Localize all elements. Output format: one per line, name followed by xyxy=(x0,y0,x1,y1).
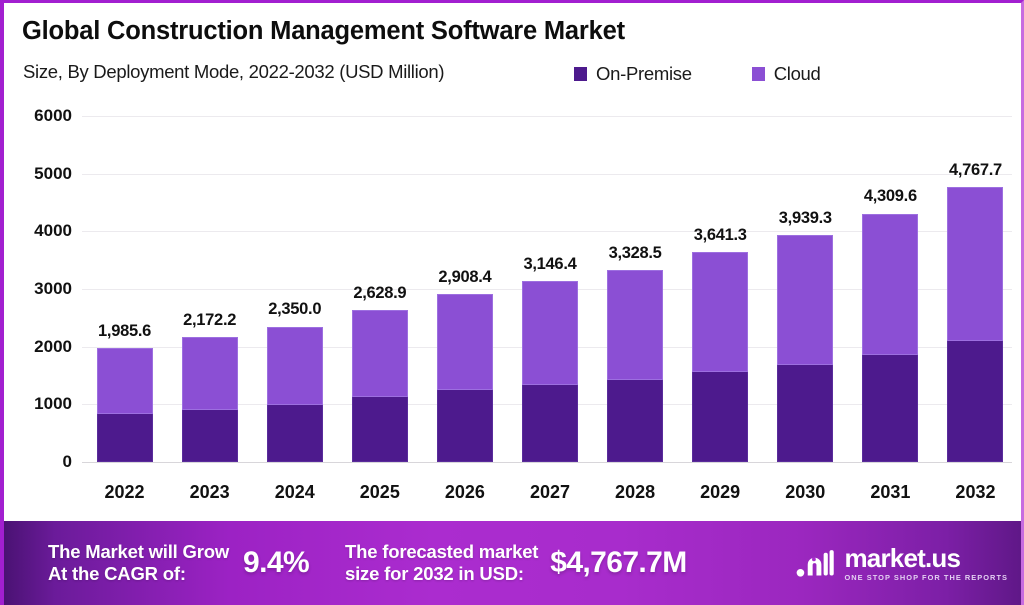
bar-segment-cloud[interactable] xyxy=(777,235,833,365)
bar-group[interactable]: 4,309.6 xyxy=(862,99,918,462)
stat-forecast: The forecasted market size for 2032 in U… xyxy=(345,541,687,585)
bar-total-label: 2,908.4 xyxy=(438,268,491,287)
legend-item-on-premise[interactable]: On-Premise xyxy=(574,63,692,85)
plot-area: 6000500040003000200010000 1,985.620222,1… xyxy=(4,99,1024,519)
chart-subtitle: Size, By Deployment Mode, 2022-2032 (USD… xyxy=(23,61,444,83)
bar-segment-cloud[interactable] xyxy=(97,348,153,415)
y-axis-tick: 6000 xyxy=(34,106,72,126)
bar-total-label: 4,309.6 xyxy=(864,187,917,206)
bar-segment-cloud[interactable] xyxy=(692,252,748,372)
bar-total-label: 2,350.0 xyxy=(268,300,321,319)
x-axis-tick: 2032 xyxy=(955,482,995,503)
logo-wordmark: market.us xyxy=(844,545,1008,571)
stat-cagr-value: 9.4% xyxy=(243,546,309,580)
x-axis-tick: 2024 xyxy=(275,482,315,503)
y-axis: 6000500040003000200010000 xyxy=(4,99,82,519)
stat-forecast-caption-line2: size for 2032 in USD: xyxy=(345,563,538,585)
bar-total-label: 2,628.9 xyxy=(353,284,406,303)
bar-stack[interactable] xyxy=(607,270,663,462)
bar-segment-on-premise[interactable] xyxy=(862,355,918,462)
bar-segment-cloud[interactable] xyxy=(607,270,663,380)
bar-total-label: 4,767.7 xyxy=(949,161,1002,180)
bar-group[interactable]: 3,328.5 xyxy=(607,99,663,462)
bar-group[interactable]: 3,939.3 xyxy=(777,99,833,462)
x-axis-tick: 2022 xyxy=(105,482,145,503)
stat-cagr-caption: The Market will Grow At the CAGR of: xyxy=(48,541,229,585)
legend-swatch-on-premise xyxy=(574,67,587,81)
bar-segment-on-premise[interactable] xyxy=(692,372,748,462)
bar-segment-cloud[interactable] xyxy=(352,310,408,397)
chart-legend: On-Premise Cloud xyxy=(574,63,821,85)
bar-group[interactable]: 2,628.9 xyxy=(352,99,408,462)
logo-text: market.us ONE STOP SHOP FOR THE REPORTS xyxy=(844,545,1008,581)
bar-segment-cloud[interactable] xyxy=(862,214,918,356)
y-axis-tick: 1000 xyxy=(34,394,72,414)
y-axis-tick: 2000 xyxy=(34,337,72,357)
bar-total-label: 2,172.2 xyxy=(183,311,236,330)
x-axis-tick: 2030 xyxy=(785,482,825,503)
stat-cagr-caption-line2: At the CAGR of: xyxy=(48,563,229,585)
x-axis-tick: 2031 xyxy=(870,482,910,503)
bar-group[interactable]: 2,172.2 xyxy=(182,99,238,462)
bar-total-label: 3,328.5 xyxy=(609,244,662,263)
chart-infographic: Global Construction Management Software … xyxy=(0,0,1024,605)
logo-bars-icon xyxy=(795,546,835,580)
bar-segment-on-premise[interactable] xyxy=(947,341,1003,462)
bar-group[interactable]: 3,146.4 xyxy=(522,99,578,462)
stat-cagr: The Market will Grow At the CAGR of: 9.4… xyxy=(48,541,309,585)
y-axis-tick: 4000 xyxy=(34,221,72,241)
legend-item-cloud[interactable]: Cloud xyxy=(752,63,821,85)
bar-total-label: 3,641.3 xyxy=(694,226,747,245)
bar-total-label: 3,146.4 xyxy=(524,255,577,274)
x-axis-tick: 2025 xyxy=(360,482,400,503)
bar-stack[interactable] xyxy=(437,294,493,462)
bar-segment-on-premise[interactable] xyxy=(777,365,833,462)
stat-forecast-caption: The forecasted market size for 2032 in U… xyxy=(345,541,538,585)
bar-total-label: 3,939.3 xyxy=(779,209,832,228)
page-title: Global Construction Management Software … xyxy=(22,17,625,46)
x-axis-tick: 2028 xyxy=(615,482,655,503)
bar-stack[interactable] xyxy=(862,214,918,463)
bar-stack[interactable] xyxy=(692,252,748,462)
bar-total-label: 1,985.6 xyxy=(98,322,151,341)
stat-cagr-caption-line1: The Market will Grow xyxy=(48,541,229,563)
x-axis-tick: 2029 xyxy=(700,482,740,503)
bar-group[interactable]: 1,985.6 xyxy=(97,99,153,462)
legend-label-cloud: Cloud xyxy=(774,63,821,85)
y-axis-tick: 5000 xyxy=(34,164,72,184)
bar-stack[interactable] xyxy=(97,348,153,462)
bar-segment-on-premise[interactable] xyxy=(352,397,408,462)
bar-segment-on-premise[interactable] xyxy=(182,410,238,462)
bar-stack[interactable] xyxy=(777,235,833,462)
bar-segment-on-premise[interactable] xyxy=(522,385,578,462)
bar-stack[interactable] xyxy=(267,327,323,463)
y-axis-tick: 3000 xyxy=(34,279,72,299)
bar-segment-cloud[interactable] xyxy=(182,337,238,410)
y-axis-tick: 0 xyxy=(63,452,72,472)
bar-stack[interactable] xyxy=(522,281,578,462)
chart-header: Global Construction Management Software … xyxy=(4,3,1024,99)
bar-group[interactable]: 4,767.7 xyxy=(947,99,1003,462)
stat-forecast-caption-line1: The forecasted market xyxy=(345,541,538,563)
bar-stack[interactable] xyxy=(182,337,238,462)
bar-segment-cloud[interactable] xyxy=(267,327,323,405)
bar-segment-on-premise[interactable] xyxy=(267,405,323,462)
bar-segment-on-premise[interactable] xyxy=(607,380,663,462)
x-axis-tick: 2023 xyxy=(190,482,230,503)
market-us-logo[interactable]: market.us ONE STOP SHOP FOR THE REPORTS xyxy=(795,545,1008,581)
bar-segment-cloud[interactable] xyxy=(437,294,493,389)
bar-segment-on-premise[interactable] xyxy=(437,390,493,462)
x-axis-tick: 2026 xyxy=(445,482,485,503)
bar-segment-cloud[interactable] xyxy=(947,187,1003,341)
bar-stack[interactable] xyxy=(947,187,1003,462)
bar-group[interactable]: 2,908.4 xyxy=(437,99,493,462)
bar-segment-cloud[interactable] xyxy=(522,281,578,386)
bar-segment-on-premise[interactable] xyxy=(97,414,153,462)
footer-banner: The Market will Grow At the CAGR of: 9.4… xyxy=(4,521,1024,605)
bar-stack[interactable] xyxy=(352,310,408,462)
bar-group[interactable]: 2,350.0 xyxy=(267,99,323,462)
bar-series-container: 1,985.620222,172.220232,350.020242,628.9… xyxy=(82,99,1018,519)
x-axis-tick: 2027 xyxy=(530,482,570,503)
bar-group[interactable]: 3,641.3 xyxy=(692,99,748,462)
legend-swatch-cloud xyxy=(752,67,765,81)
logo-tagline: ONE STOP SHOP FOR THE REPORTS xyxy=(844,574,1008,581)
legend-label-on-premise: On-Premise xyxy=(596,63,692,85)
stat-forecast-value: $4,767.7M xyxy=(550,546,686,580)
